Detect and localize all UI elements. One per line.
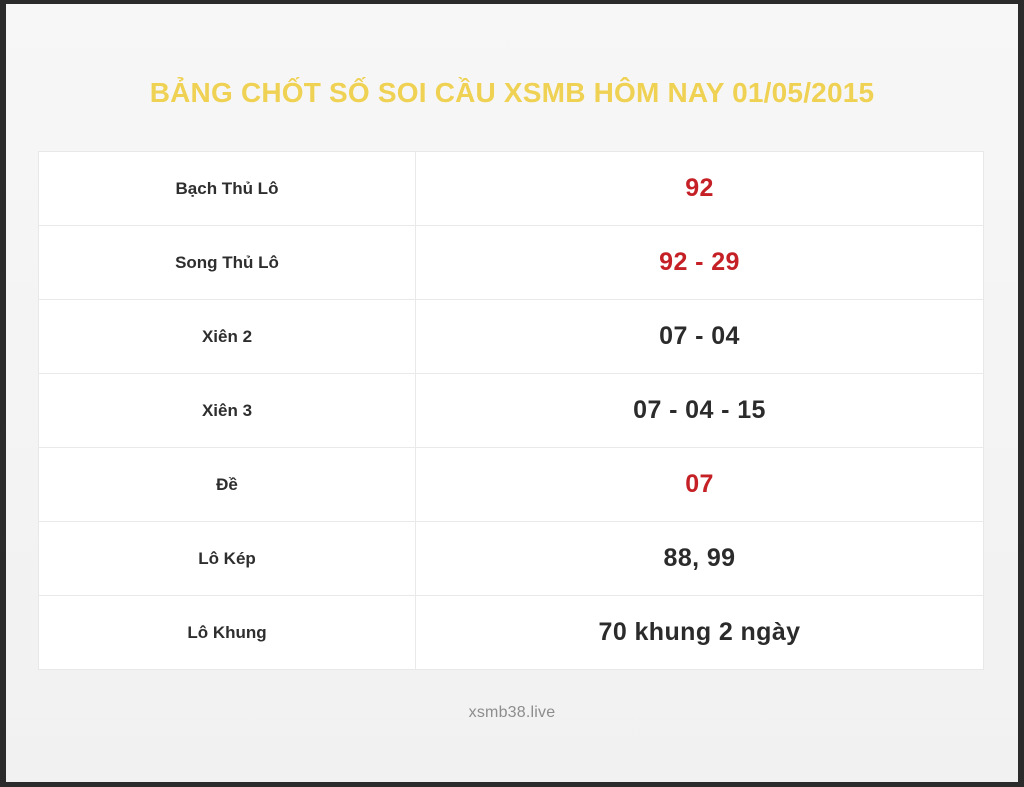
row-label-lo-kep: Lô Kép — [39, 522, 416, 596]
table-row: Đề 07 — [39, 448, 984, 522]
row-value-de: 07 — [416, 448, 984, 522]
page-container: BẢNG CHỐT SỐ SOI CẦU XSMB HÔM NAY 01/05/… — [6, 4, 1018, 782]
row-label-xien-2: Xiên 2 — [39, 300, 416, 374]
table-row: Song Thủ Lô 92 - 29 — [39, 226, 984, 300]
table-row: Lô Kép 88, 99 — [39, 522, 984, 596]
row-value-xien-3: 07 - 04 - 15 — [416, 374, 984, 448]
page-title: BẢNG CHỐT SỐ SOI CẦU XSMB HÔM NAY 01/05/… — [150, 78, 875, 109]
table-row: Xiên 2 07 - 04 — [39, 300, 984, 374]
footer-site-name: xsmb38.live — [469, 704, 556, 722]
row-value-lo-khung: 70 khung 2 ngày — [416, 596, 984, 670]
table-body: Bạch Thủ Lô 92 Song Thủ Lô 92 - 29 Xiên … — [39, 152, 984, 670]
table-row: Bạch Thủ Lô 92 — [39, 152, 984, 226]
row-value-bach-thu-lo: 92 — [416, 152, 984, 226]
row-label-bach-thu-lo: Bạch Thủ Lô — [39, 152, 416, 226]
table-row: Xiên 3 07 - 04 - 15 — [39, 374, 984, 448]
lottery-prediction-table: Bạch Thủ Lô 92 Song Thủ Lô 92 - 29 Xiên … — [38, 151, 984, 670]
row-label-de: Đề — [39, 448, 416, 522]
row-value-song-thu-lo: 92 - 29 — [416, 226, 984, 300]
row-value-lo-kep: 88, 99 — [416, 522, 984, 596]
row-label-xien-3: Xiên 3 — [39, 374, 416, 448]
title-bar: BẢNG CHỐT SỐ SOI CẦU XSMB HÔM NAY 01/05/… — [6, 78, 1018, 109]
row-value-xien-2: 07 - 04 — [416, 300, 984, 374]
table-row: Lô Khung 70 khung 2 ngày — [39, 596, 984, 670]
row-label-song-thu-lo: Song Thủ Lô — [39, 226, 416, 300]
row-label-lo-khung: Lô Khung — [39, 596, 416, 670]
site-footer: xsmb38.live — [6, 704, 1018, 722]
